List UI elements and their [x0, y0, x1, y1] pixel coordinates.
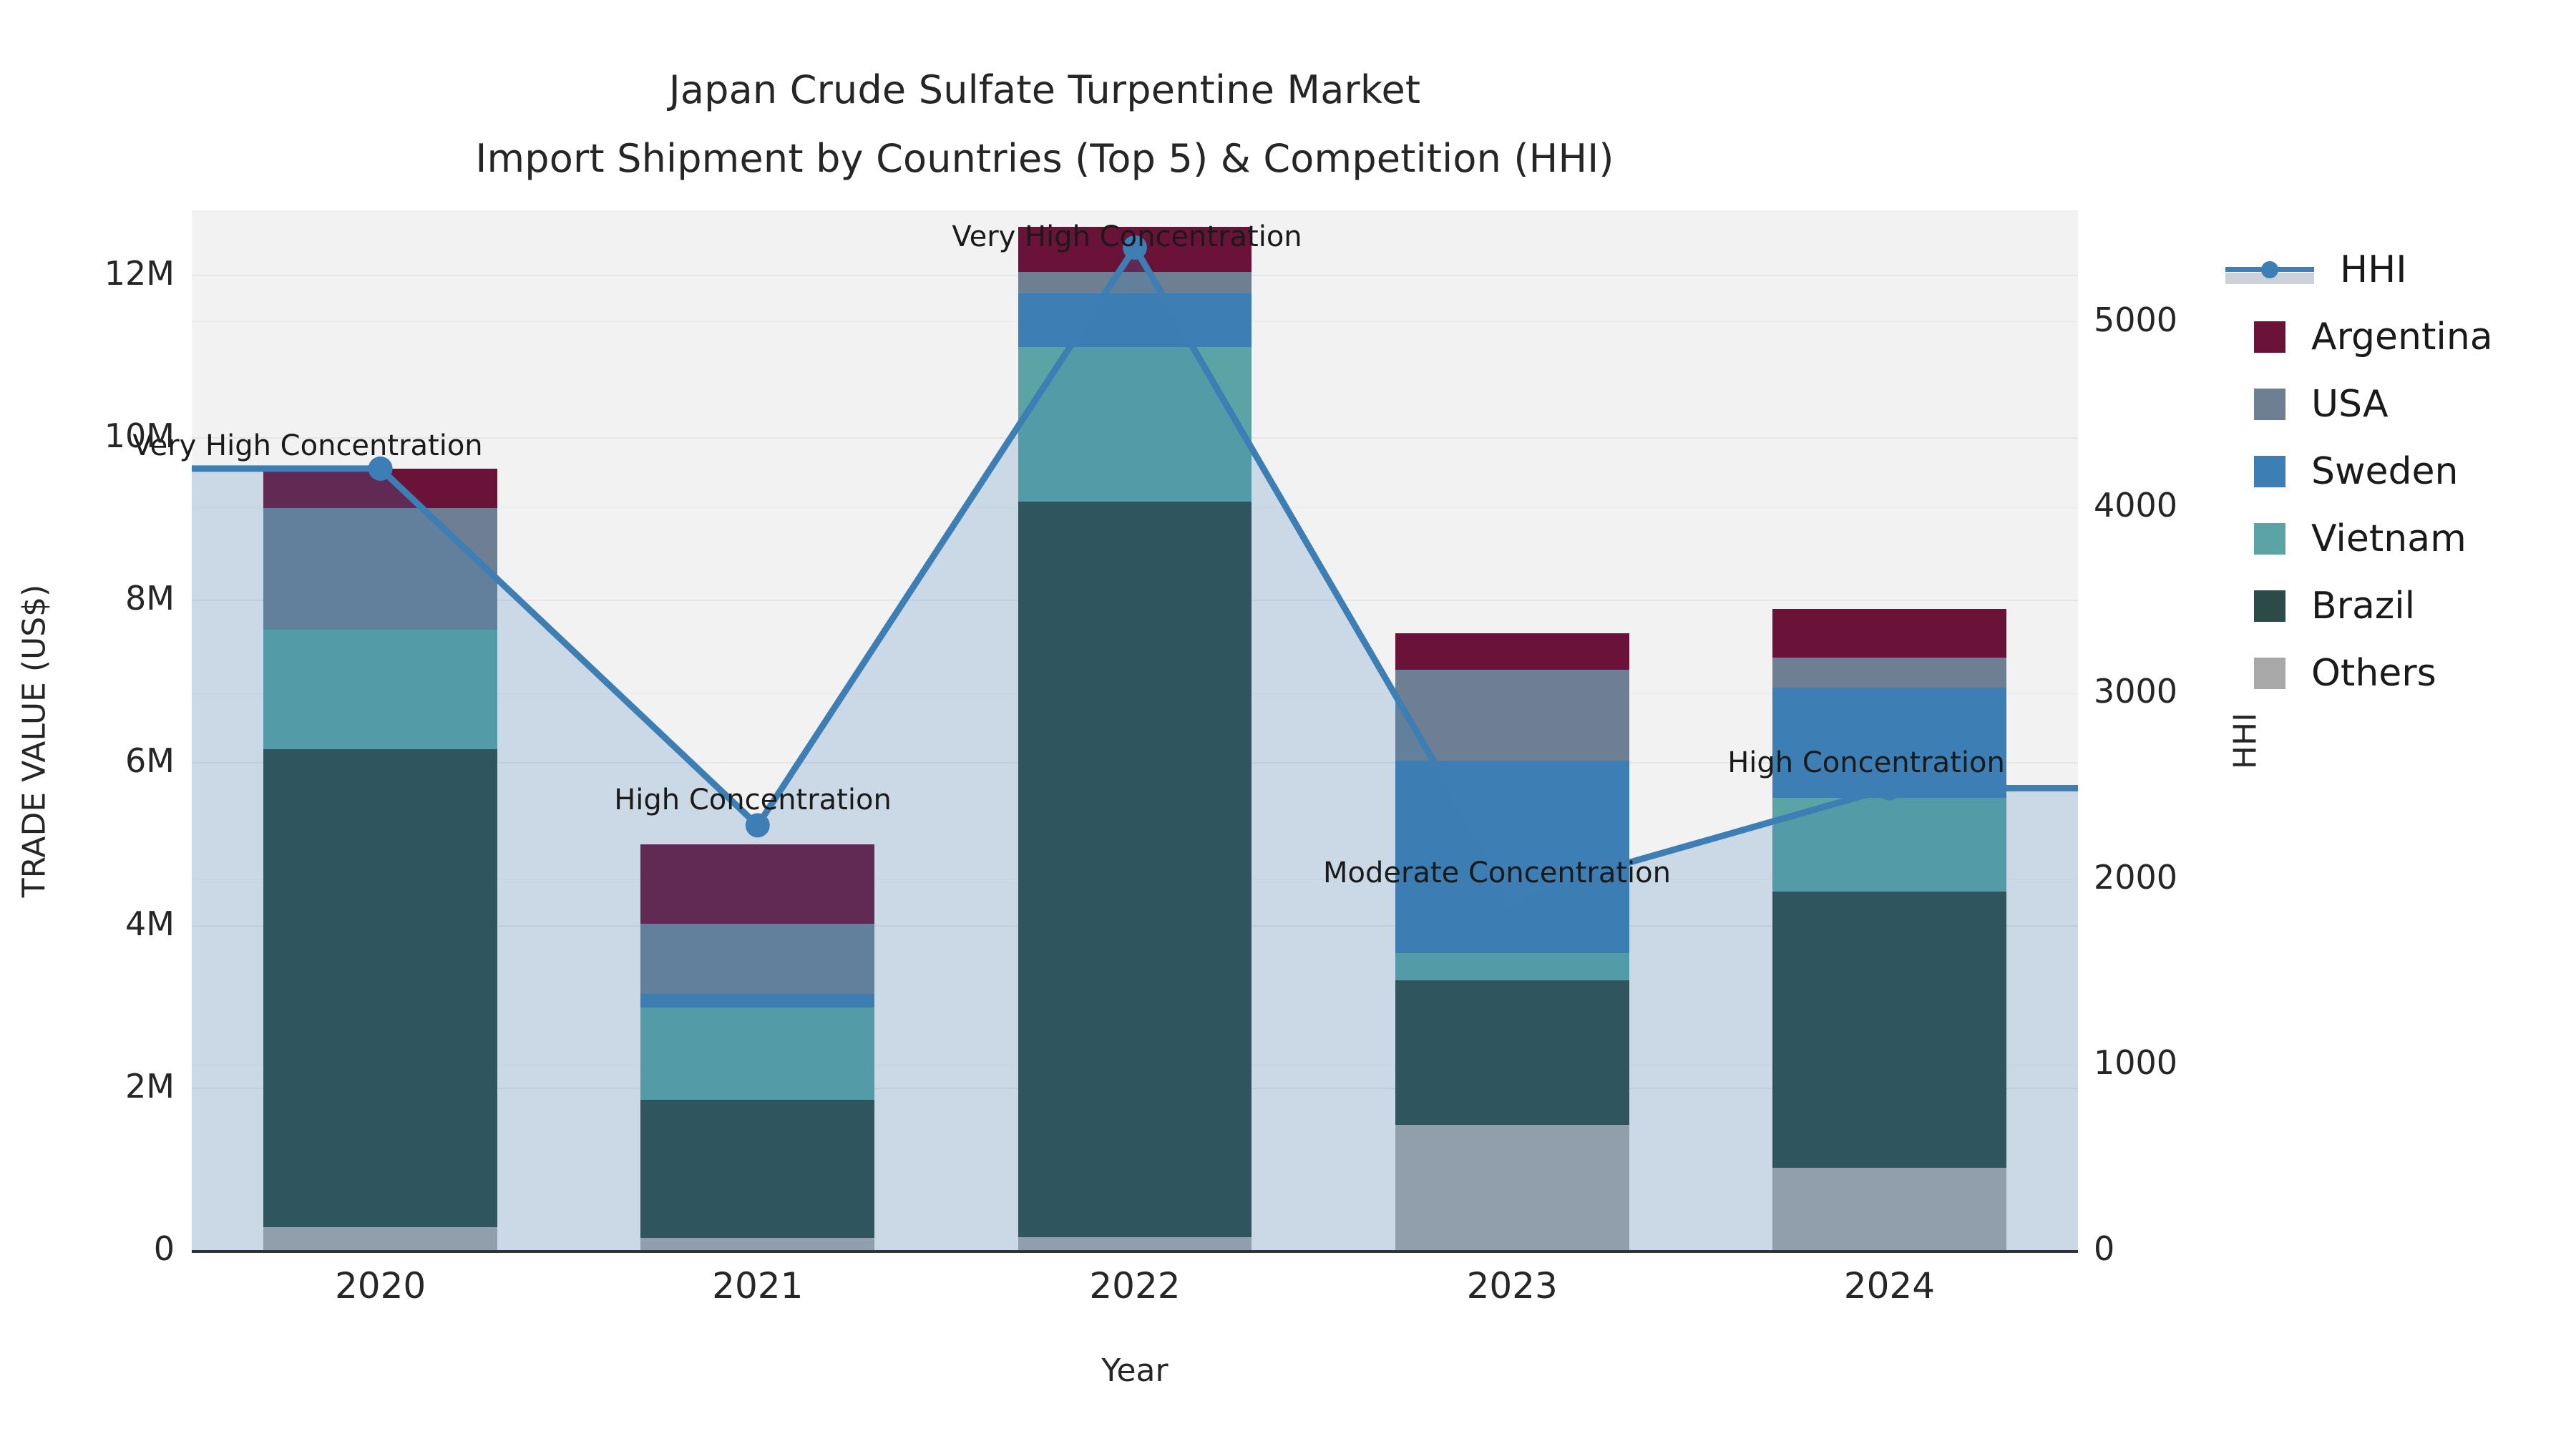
legend-item-vietnam[interactable]: Vietnam — [2254, 505, 2569, 572]
y-axis-right-tick-label: 2000 — [2094, 858, 2177, 897]
y-axis-left-tick-label: 8M — [125, 579, 175, 618]
legend-item-label: Brazil — [2311, 587, 2415, 625]
legend-line-icon — [2225, 254, 2314, 286]
x-axis-tick-label: 2022 — [1028, 1265, 1242, 1307]
concentration-annotation: Very High Concentration — [952, 220, 1302, 253]
y-axis-left-tick-label: 10M — [104, 416, 175, 455]
y-axis-left-tick-label: 6M — [125, 741, 175, 780]
legend-color-swatch — [2254, 590, 2285, 622]
y-axis-right-tick-label: 1000 — [2094, 1043, 2177, 1082]
y-axis-right-tick-label: 4000 — [2094, 486, 2177, 525]
legend-item-label: HHI — [2340, 251, 2407, 288]
legend-color-swatch — [2254, 456, 2285, 487]
chart-title: Japan Crude Sulfate Turpentine Market Im… — [0, 56, 2089, 193]
concentration-annotation: Moderate Concentration — [1323, 857, 1671, 889]
plot-area: Very High ConcentrationHigh Concentratio… — [192, 210, 2078, 1251]
y-axis-right-tick-label: 5000 — [2094, 301, 2177, 339]
hhi-data-point[interactable] — [746, 813, 770, 837]
legend-item-label: Sweden — [2311, 453, 2459, 490]
hhi-line-series — [192, 210, 2078, 1251]
chart-title-line-1: Japan Crude Sulfate Turpentine Market — [0, 56, 2089, 125]
x-axis-spine — [192, 1250, 2078, 1253]
legend-item-argentina[interactable]: Argentina — [2254, 303, 2569, 371]
legend-item-label: Others — [2311, 655, 2436, 692]
y-axis-left-tick-label: 0 — [154, 1229, 175, 1268]
legend-item-brazil[interactable]: Brazil — [2254, 572, 2569, 640]
legend-item-label: USA — [2311, 386, 2389, 423]
chart-figure: Japan Crude Sulfate Turpentine Market Im… — [0, 0, 2576, 1449]
y-axis-left-label: TRADE VALUE (US$) — [16, 455, 53, 1028]
y-axis-left-tick-label: 12M — [104, 254, 175, 293]
y-axis-left-tick-label: 4M — [125, 904, 175, 943]
legend-item-label: Argentina — [2311, 318, 2493, 356]
x-axis-label: Year — [192, 1352, 2078, 1389]
x-axis-tick-label: 2023 — [1405, 1265, 1619, 1307]
hhi-data-point[interactable] — [1877, 776, 1901, 801]
legend-color-swatch — [2254, 523, 2285, 555]
chart-legend: HHIArgentinaUSASwedenVietnamBrazilOthers — [2254, 236, 2569, 707]
legend-item-hhi[interactable]: HHI — [2254, 236, 2569, 303]
y-axis-right-tick-label: 0 — [2094, 1229, 2114, 1268]
concentration-annotation: High Concentration — [1727, 746, 2005, 779]
legend-item-sweden[interactable]: Sweden — [2254, 438, 2569, 505]
legend-color-swatch — [2254, 389, 2285, 420]
x-axis-tick-label: 2021 — [650, 1265, 865, 1307]
legend-item-label: Vietnam — [2311, 520, 2467, 557]
y-axis-right-tick-label: 3000 — [2094, 672, 2177, 711]
legend-color-swatch — [2254, 321, 2285, 353]
legend-item-others[interactable]: Others — [2254, 640, 2569, 707]
x-axis-tick-label: 2024 — [1782, 1265, 1996, 1307]
y-axis-left-tick-label: 2M — [125, 1067, 175, 1106]
legend-item-usa[interactable]: USA — [2254, 371, 2569, 438]
concentration-annotation: High Concentration — [614, 784, 892, 816]
chart-title-line-2: Import Shipment by Countries (Top 5) & C… — [0, 125, 2089, 193]
concentration-annotation: Very High Concentration — [132, 429, 482, 462]
x-axis-tick-label: 2020 — [273, 1265, 488, 1307]
legend-color-swatch — [2254, 658, 2285, 689]
